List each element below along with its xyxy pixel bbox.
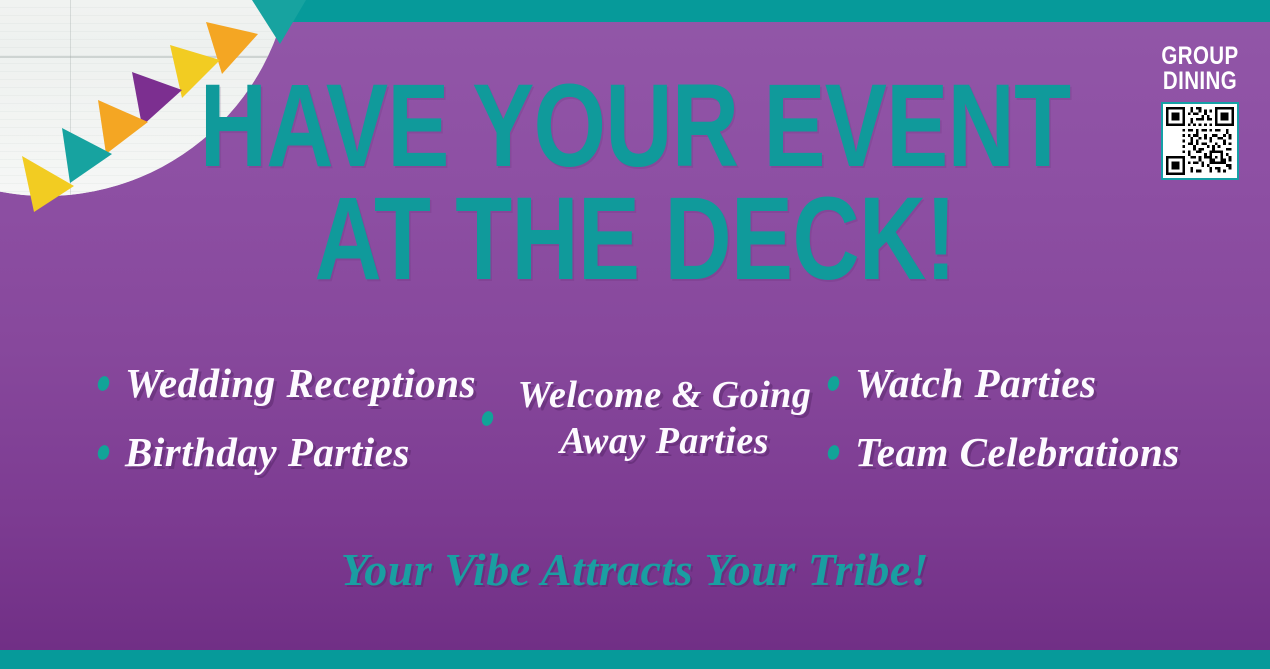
bullet-dot-icon xyxy=(96,444,111,462)
list-item-label: Birthday Parties xyxy=(125,431,410,474)
event-types-list: Wedding Receptions Birthday Parties Welc… xyxy=(0,358,1270,508)
list-item-label: Watch Parties xyxy=(855,362,1097,405)
tagline: Your Vibe Attracts Your Tribe! xyxy=(0,543,1270,596)
list-item: Watch Parties xyxy=(828,362,1198,405)
event-types-column-1: Wedding Receptions Birthday Parties xyxy=(98,362,478,500)
headline-line-2: AT THE DECK! xyxy=(133,185,1136,294)
bullet-dot-icon xyxy=(826,375,841,393)
list-item-label: Welcome & Going Away Parties xyxy=(507,372,822,465)
bullet-dot-icon xyxy=(96,375,111,393)
list-item: Team Celebrations xyxy=(828,431,1198,474)
event-types-column-2: Welcome & Going Away Parties xyxy=(482,372,822,465)
list-item: Birthday Parties xyxy=(98,431,478,474)
bullet-dot-icon xyxy=(480,410,495,428)
list-item-label: Team Celebrations xyxy=(855,431,1180,474)
list-item: Wedding Receptions xyxy=(98,362,478,405)
headline-line-1: HAVE YOUR EVENT xyxy=(133,72,1136,181)
qr-title-line1: GROUP xyxy=(1161,44,1240,69)
event-promo-banner: GROUP DINING xyxy=(0,0,1270,669)
list-item-label: Wedding Receptions xyxy=(125,362,476,405)
event-types-column-3: Watch Parties Team Celebrations xyxy=(828,362,1198,500)
list-item: Welcome & Going Away Parties xyxy=(482,372,822,465)
headline: HAVE YOUR EVENT AT THE DECK! xyxy=(0,72,1270,293)
bullet-dot-icon xyxy=(826,444,841,462)
bottom-accent-bar xyxy=(0,650,1270,669)
